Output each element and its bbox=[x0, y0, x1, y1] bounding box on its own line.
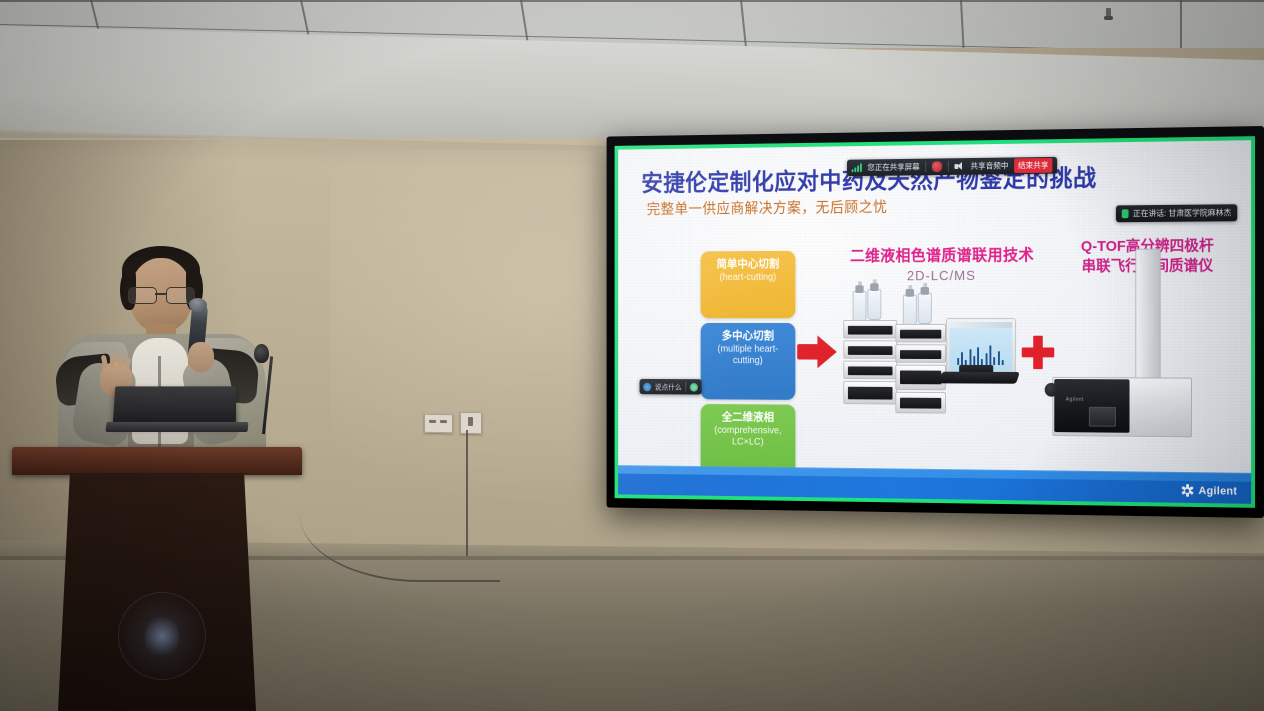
hplc-stack-left bbox=[843, 320, 895, 406]
wall-cable-drop bbox=[466, 430, 470, 556]
projection-screen: 安捷伦定制化应对中药及天然产物鉴定的挑战 完整单一供应商解决方案，无后顾之忧 简… bbox=[564, 126, 1264, 518]
audio-icon[interactable] bbox=[690, 383, 698, 392]
right-hand bbox=[188, 342, 214, 372]
agilent-wordmark: Agilent bbox=[1198, 485, 1237, 497]
center-heading-zh: 二维液相色谱质谱联用技术 bbox=[834, 241, 1050, 266]
laptop-screen[interactable] bbox=[113, 386, 236, 426]
technique-box-multiple-heart-cutting: 多中心切割 (multiple heart-cutting) bbox=[701, 323, 796, 400]
red-plus-icon bbox=[1022, 336, 1055, 369]
laptop-base[interactable] bbox=[105, 422, 248, 432]
box-label-zh: 多中心切割 bbox=[704, 330, 791, 344]
box-label-zh: 全二维液相 bbox=[704, 411, 791, 425]
float-widget-label: 说点什么 bbox=[655, 381, 682, 392]
floating-annotation-widget[interactable]: 说点什么 bbox=[640, 379, 702, 395]
share-status-label: 您正在共享屏幕 bbox=[867, 162, 919, 173]
technique-box-list: 简单中心切割 (heart-cutting) 多中心切割 (multiple h… bbox=[701, 251, 792, 481]
qtof-brand-label: Agilent bbox=[1066, 397, 1084, 403]
technique-box-heart-cutting: 简单中心切割 (heart-cutting) bbox=[701, 251, 796, 318]
slide-footer: Agilent bbox=[618, 466, 1251, 504]
technique-box-comprehensive: 全二维液相 (comprehensive, LC×LC) bbox=[701, 404, 796, 476]
slide-subtitle: 完整单一供应商解决方案，无后顾之忧 bbox=[647, 196, 888, 219]
monitor-foot bbox=[938, 372, 1019, 384]
solvent-bottle bbox=[867, 289, 881, 320]
podium-emblem bbox=[118, 592, 206, 680]
box-label-en: (multiple heart-cutting) bbox=[704, 344, 791, 367]
chromatogram-trace bbox=[953, 343, 1008, 365]
glasses-icon bbox=[128, 287, 196, 302]
agilent-logo: Agilent bbox=[1181, 484, 1237, 498]
slide-content: 安捷伦定制化应对中药及天然产物鉴定的挑战 完整单一供应商解决方案，无后顾之忧 简… bbox=[618, 140, 1251, 504]
red-right-arrow-icon bbox=[797, 335, 838, 368]
screen-display: 安捷伦定制化应对中药及天然产物鉴定的挑战 完整单一供应商解决方案，无后顾之忧 简… bbox=[615, 136, 1255, 508]
qtof-display bbox=[1089, 407, 1116, 427]
power-outlet-double bbox=[424, 414, 453, 434]
audio-share-label: 共享音频中 bbox=[970, 160, 1008, 171]
screenshot-root: 安捷伦定制化应对中药及天然产物鉴定的挑战 完整单一供应商解决方案，无后顾之忧 简… bbox=[0, 0, 1264, 711]
screen-share-toolbar[interactable]: 您正在共享屏幕 共享音频中 结束共享 bbox=[847, 157, 1057, 176]
annotation-icon[interactable] bbox=[643, 382, 651, 391]
active-speaker-label: 正在讲话: 甘肃医学院麻林杰 bbox=[1133, 207, 1231, 219]
center-heading-en: 2D-LC/MS bbox=[834, 267, 1050, 283]
box-label-en: (heart-cutting) bbox=[704, 272, 791, 284]
screen-bezel: 安捷伦定制化应对中药及天然产物鉴定的挑战 完整单一供应商解决方案，无后顾之忧 简… bbox=[607, 126, 1264, 518]
solvent-bottle bbox=[903, 295, 917, 326]
gooseneck-mic-head bbox=[254, 344, 269, 363]
active-speaker-badge: 正在讲话: 甘肃医学院麻林杰 bbox=[1116, 204, 1238, 222]
power-outlet-single bbox=[460, 412, 482, 434]
podium-engraving bbox=[88, 452, 238, 472]
solvent-bottle bbox=[918, 293, 932, 324]
fire-sprinkler-icon bbox=[1104, 8, 1113, 22]
agilent-sunburst-icon bbox=[1181, 484, 1194, 497]
qtof-source-knob bbox=[1045, 383, 1058, 397]
box-label-zh: 简单中心切割 bbox=[704, 258, 791, 272]
center-heading: 二维液相色谱质谱联用技术 2D-LC/MS bbox=[834, 241, 1050, 283]
raise-hand-icon[interactable] bbox=[932, 161, 942, 172]
speaker-icon[interactable] bbox=[954, 162, 964, 171]
hplc-stack-right bbox=[895, 324, 944, 416]
box-label-en: (comprehensive, LC×LC) bbox=[704, 425, 791, 449]
signal-bars-icon bbox=[852, 163, 862, 172]
mic-active-icon bbox=[1121, 209, 1128, 218]
end-share-button[interactable]: 结束共享 bbox=[1014, 158, 1052, 173]
solvent-bottle bbox=[853, 291, 867, 322]
